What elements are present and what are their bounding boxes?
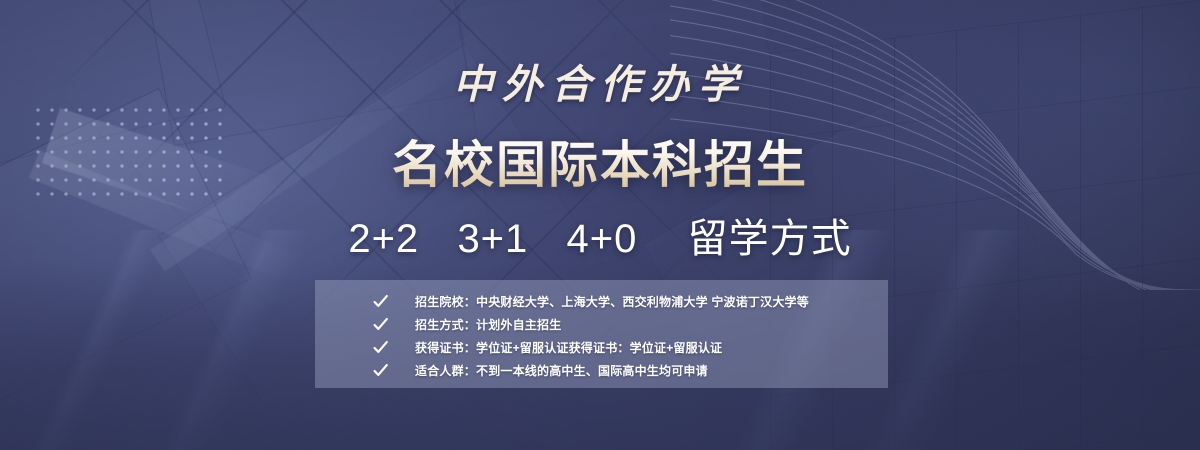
main-title: 名校国际本科招生 — [0, 125, 1200, 197]
list-item: 招生方式：计划外自主招生 — [315, 313, 888, 336]
list-item: 获得证书：学位证+留服认证获得证书：学位证+留服认证 — [315, 336, 888, 359]
promo-banner: 中外合作办学 名校国际本科招生 2+2 3+1 4+0 留学方式 招生院校：中央… — [0, 0, 1200, 450]
subtitle: 2+2 3+1 4+0 留学方式 — [0, 206, 1200, 264]
check-icon — [372, 293, 389, 310]
brush-title: 中外合作办学 — [0, 52, 1200, 110]
list-item: 适合人群：不到一本线的高中生、国际高中生均可申请 — [315, 359, 888, 382]
check-icon — [372, 362, 389, 379]
subtitle-part-2plus2: 2+2 — [348, 217, 419, 261]
list-item-text: 获得证书：学位证+留服认证获得证书：学位证+留服认证 — [415, 339, 722, 356]
info-panel: 招生院校：中央财经大学、上海大学、西交利物浦大学 宁波诺丁汉大学等 招生方式：计… — [315, 280, 888, 388]
subtitle-part-3plus1: 3+1 — [457, 217, 528, 261]
banner-content: 中外合作办学 名校国际本科招生 2+2 3+1 4+0 留学方式 招生院校：中央… — [0, 0, 1200, 450]
subtitle-part-4plus0: 4+0 — [567, 217, 638, 261]
list-item-text: 适合人群：不到一本线的高中生、国际高中生均可申请 — [415, 362, 708, 379]
list-item-text: 招生院校：中央财经大学、上海大学、西交利物浦大学 宁波诺丁汉大学等 — [415, 293, 809, 310]
list-item-text: 招生方式：计划外自主招生 — [415, 316, 561, 333]
subtitle-part-study-abroad: 留学方式 — [688, 217, 852, 261]
list-item: 招生院校：中央财经大学、上海大学、西交利物浦大学 宁波诺丁汉大学等 — [315, 290, 888, 313]
check-icon — [372, 339, 389, 356]
check-icon — [372, 316, 389, 333]
